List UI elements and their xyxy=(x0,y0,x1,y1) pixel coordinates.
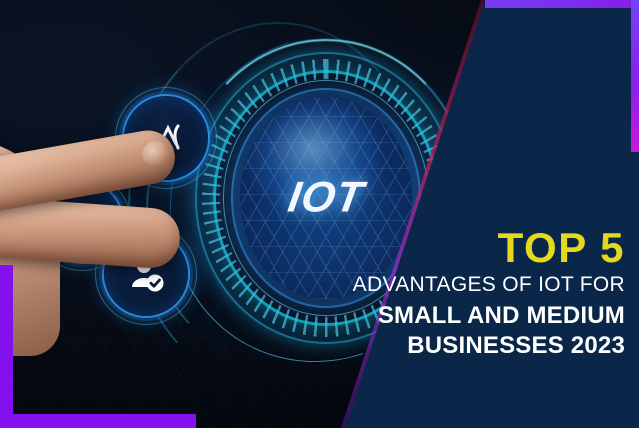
accent-bracket-vertical xyxy=(0,265,13,428)
accent-bar-top xyxy=(485,0,639,8)
headline-line-small-medium: SMALL AND MEDIUM xyxy=(195,303,625,329)
headline-line-advantages: ADVANTAGES OF IOT FOR xyxy=(195,274,625,296)
iot-sphere-label: IOT xyxy=(285,174,367,223)
hand-finger-index xyxy=(0,126,179,216)
headline-line-businesses: BUSINESSES 2023 xyxy=(195,333,625,359)
headline-block: TOP 5 ADVANTAGES OF IOT FOR SMALL AND ME… xyxy=(195,228,625,363)
hand-pointing-finger xyxy=(0,138,210,328)
accent-bar-right xyxy=(631,0,639,152)
headline-line-top5: TOP 5 xyxy=(195,228,625,268)
accent-bracket-horizontal xyxy=(0,414,196,428)
iot-blog-banner: IOT xyxy=(0,0,639,428)
